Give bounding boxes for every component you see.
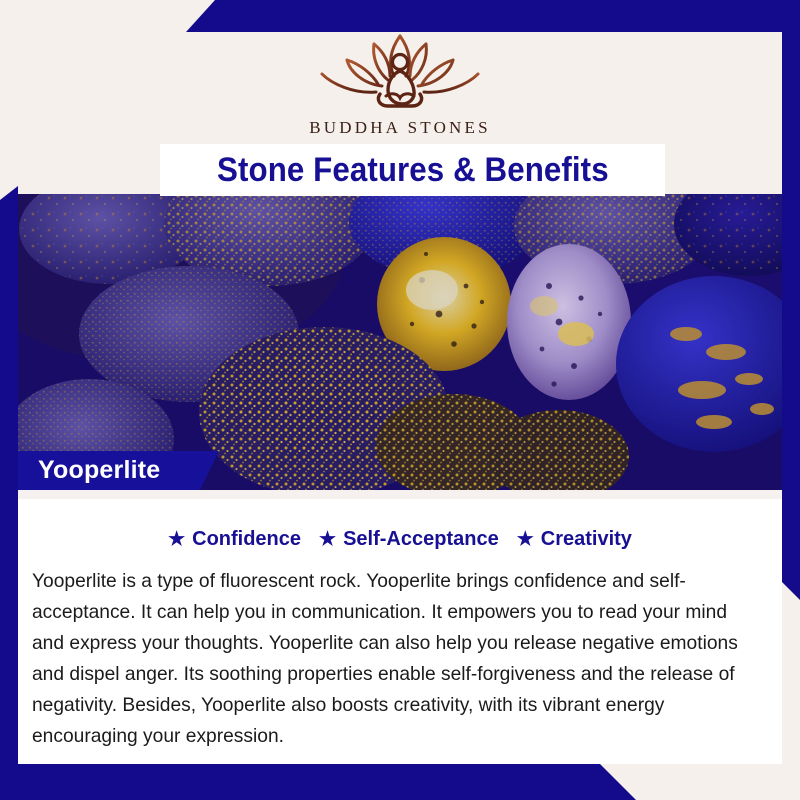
stone-name: Yooperlite bbox=[38, 456, 160, 485]
lotus-meditation-icon bbox=[314, 24, 486, 112]
star-icon: ★ bbox=[517, 530, 534, 549]
keyword-label: Confidence bbox=[192, 528, 301, 551]
keyword-item: ★ Confidence bbox=[168, 528, 301, 551]
stone-name-banner: Yooperlite bbox=[14, 451, 219, 490]
frame-left-bar bbox=[0, 186, 18, 800]
keyword-list: ★ Confidence ★ Self-Acceptance ★ Creativ… bbox=[18, 528, 782, 551]
star-icon: ★ bbox=[319, 530, 336, 549]
brand-name: BUDDHA STONES bbox=[309, 118, 491, 138]
panel-top-divider bbox=[18, 490, 782, 499]
keyword-item: ★ Self-Acceptance bbox=[319, 528, 499, 551]
title-band: Stone Features & Benefits bbox=[160, 144, 665, 196]
frame-bottom-bar bbox=[0, 764, 800, 800]
yooperlite-stones-uv-photo bbox=[14, 194, 786, 490]
stone-description: Yooperlite is a type of fluorescent rock… bbox=[32, 566, 761, 752]
content-panel: ★ Confidence ★ Self-Acceptance ★ Creativ… bbox=[18, 490, 782, 764]
stone-info-card: BUDDHA STONES bbox=[0, 0, 800, 800]
brand-logo: BUDDHA STONES bbox=[0, 24, 800, 138]
frame-right-bar bbox=[782, 0, 800, 600]
star-icon: ★ bbox=[168, 530, 185, 549]
keyword-label: Creativity bbox=[541, 528, 632, 551]
keyword-item: ★ Creativity bbox=[517, 528, 632, 551]
keyword-label: Self-Acceptance bbox=[343, 528, 499, 551]
page-title: Stone Features & Benefits bbox=[217, 151, 609, 190]
